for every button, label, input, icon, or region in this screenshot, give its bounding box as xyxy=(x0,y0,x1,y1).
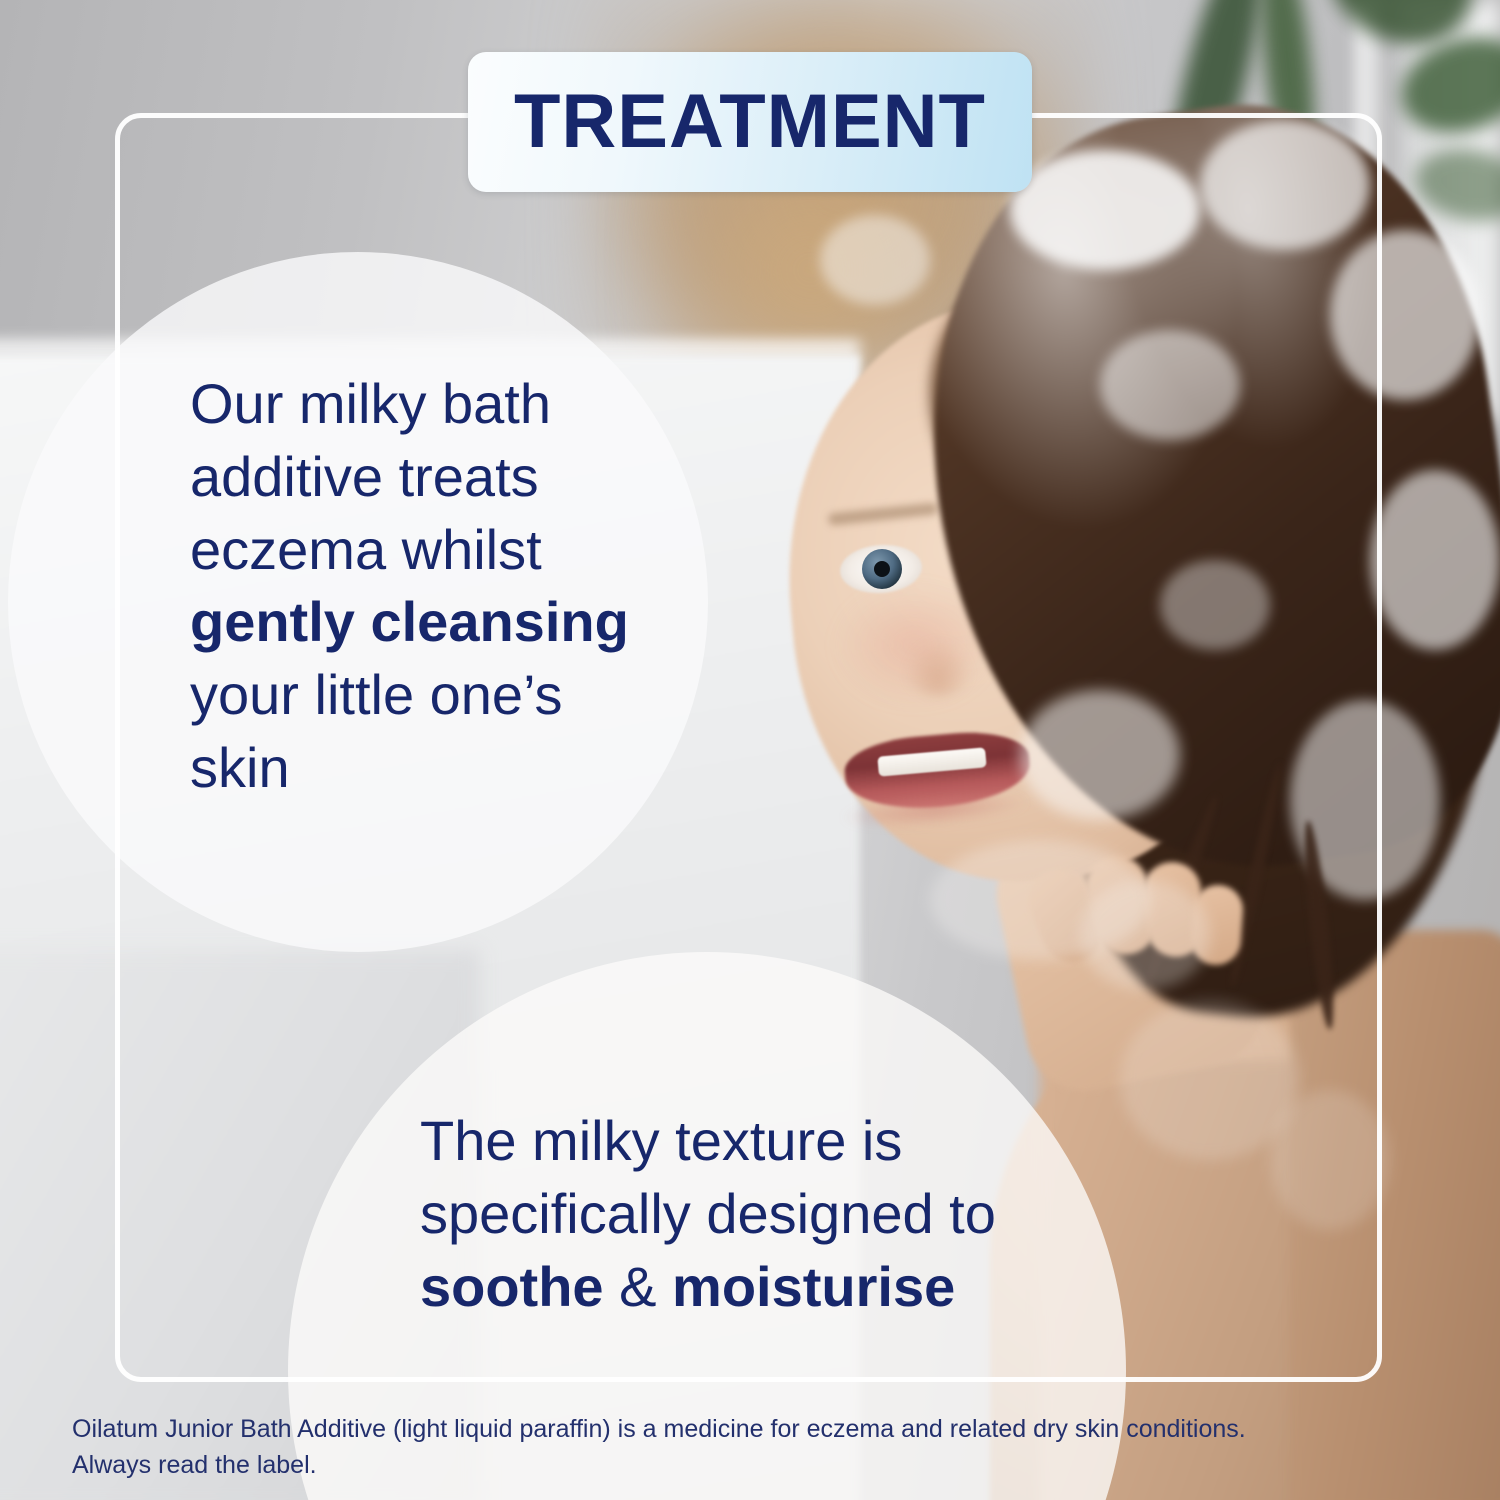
copy-block-secondary: The milky texture is specifically design… xyxy=(420,1105,1060,1323)
soap-suds xyxy=(1330,230,1480,400)
treatment-badge-label: TREATMENT xyxy=(514,84,986,160)
soap-suds xyxy=(1160,560,1270,650)
lather-foam xyxy=(1080,880,1210,990)
soap-suds xyxy=(820,215,930,305)
copy-text-secondary: The milky texture is specifically design… xyxy=(420,1105,1060,1323)
lather-foam xyxy=(1270,1090,1390,1230)
disclaimer-line-2: Always read the label. xyxy=(72,1448,1432,1484)
child-pupil-left xyxy=(874,561,890,577)
treatment-badge: TREATMENT xyxy=(468,52,1032,192)
disclaimer-line-1: Oilatum Junior Bath Additive (light liqu… xyxy=(72,1412,1432,1448)
legal-disclaimer: Oilatum Junior Bath Additive (light liqu… xyxy=(72,1412,1432,1483)
soap-suds xyxy=(1010,150,1200,270)
copy-text-primary: Our milky bath additive treats eczema wh… xyxy=(190,368,660,805)
soap-suds xyxy=(1200,120,1370,250)
lather-foam xyxy=(1020,690,1180,820)
creative-canvas: TREATMENT Our milky bath additive treats… xyxy=(0,0,1500,1500)
soap-suds xyxy=(1100,330,1240,440)
child-nose xyxy=(905,640,971,696)
copy-block-primary: Our milky bath additive treats eczema wh… xyxy=(190,368,660,805)
soap-suds xyxy=(1370,470,1500,650)
